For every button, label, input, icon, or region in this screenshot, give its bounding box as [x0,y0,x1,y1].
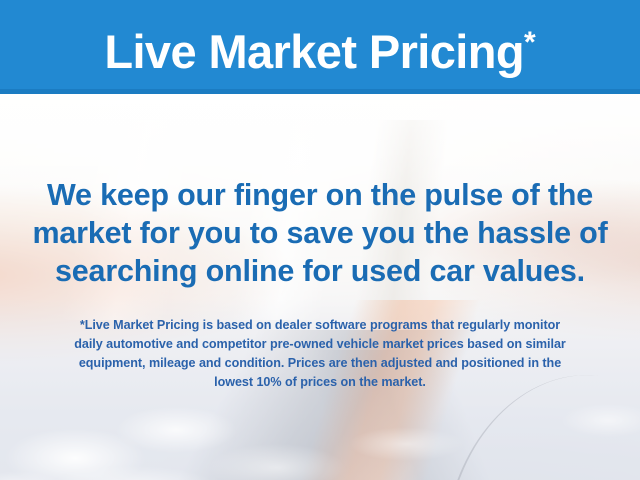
page-title: Live Market Pricing* [0,0,640,89]
page-title-asterisk: * [524,26,536,59]
header-banner-underline [0,89,640,94]
headline-line: We keep our finger on the pulse of the [24,176,616,214]
page-title-text: Live Market Pricing [104,25,524,78]
disclaimer-text: *Live Market Pricing is based on dealer … [28,316,612,392]
disclaimer-line: *Live Market Pricing is based on dealer … [28,316,612,335]
headline-line: market for you to save you the hassle of [24,214,616,252]
disclaimer-line: equipment, mileage and condition. Prices… [28,354,612,373]
disclaimer-line: daily automotive and competitor pre-owne… [28,335,612,354]
headline: We keep our finger on the pulse of the m… [24,176,616,290]
live-market-pricing-ad: Live Market Pricing* We keep our finger … [0,0,640,480]
headline-line: searching online for used car values. [24,252,616,290]
disclaimer-line: lowest 10% of prices on the market. [28,373,612,392]
